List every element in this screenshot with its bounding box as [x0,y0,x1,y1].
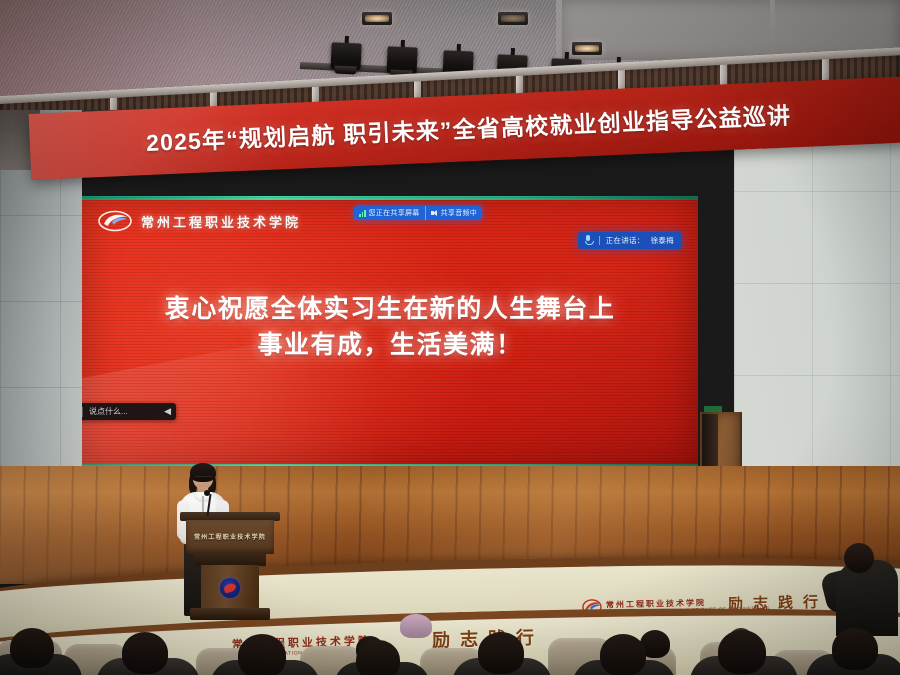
share-screen-pill: 您正在共享屏幕 [354,206,425,220]
divider [82,407,83,417]
share-screen-label: 您正在共享屏幕 [369,208,420,218]
chat-input[interactable]: 说点什么... [89,406,155,417]
microphone-head-icon [204,490,210,496]
audience-head [478,632,524,674]
changzhou-institute-logo-icon [98,210,132,232]
audience-head [718,630,766,674]
audience-member-head [844,543,874,573]
screen-share-indicator: 您正在共享屏幕 共享音频中 [354,206,482,220]
screen-edge-top [82,196,698,200]
active-speaker-badge: 正在讲话： 徐泰梅 [578,232,682,249]
audience-head [600,634,646,675]
speaking-name: 徐泰梅 [651,235,674,246]
ceiling-beam [770,0,775,54]
audience-head [400,614,432,638]
ceiling-light-icon [498,12,528,25]
glasses-icon [195,476,212,480]
speaking-label: 正在讲话： [606,235,645,246]
exit-sign-icon [704,406,722,412]
audience-head [122,632,168,674]
lanyard [202,496,204,512]
share-audio-pill: 共享音频中 [425,206,483,220]
podium-nameplate: 常州工程职业技术学院 [186,532,274,541]
share-audio-label: 共享音频中 [441,208,478,218]
stage-light-icon [330,35,362,78]
audience-rows [0,588,900,675]
divider [599,236,600,245]
slide-body: 衷心祝愿全体实习生在新的人生舞台上 事业有成，生活美满！ [82,292,698,363]
audience-head [356,640,400,675]
audience-head [10,628,54,668]
audience-head [832,628,878,670]
audience-head [238,634,286,675]
shared-presentation-slide: 常州工程职业技术学院 您正在共享屏幕 共享音频中 正在讲话： 徐泰梅 [82,196,698,468]
ceiling-light-icon [362,12,392,25]
microphone-icon [584,235,593,246]
led-screen: 常州工程职业技术学院 您正在共享屏幕 共享音频中 正在讲话： 徐泰梅 [82,196,698,468]
signal-bars-icon [359,210,366,217]
slide-line-2: 事业有成，生活美满！ [112,328,668,364]
speaker-icon [431,210,438,217]
send-arrow-icon[interactable]: ◀ [161,407,171,416]
podium-face: 常州工程职业技术学院 [186,520,274,554]
slide-school-name: 常州工程职业技术学院 [141,212,301,231]
slide-line-1: 衷心祝愿全体实习生在新的人生舞台上 [112,292,668,328]
chat-composer[interactable]: 说点什么... ◀ [82,403,176,420]
slide-header: 常州工程职业技术学院 [98,210,301,232]
auditorium-scene: 常州工程职业技术学院 您正在共享屏幕 共享音频中 正在讲话： 徐泰梅 [0,0,900,675]
event-banner-text: 2025年“规划启航 职引未来”全省高校就业创业指导公益巡讲 [145,96,791,158]
